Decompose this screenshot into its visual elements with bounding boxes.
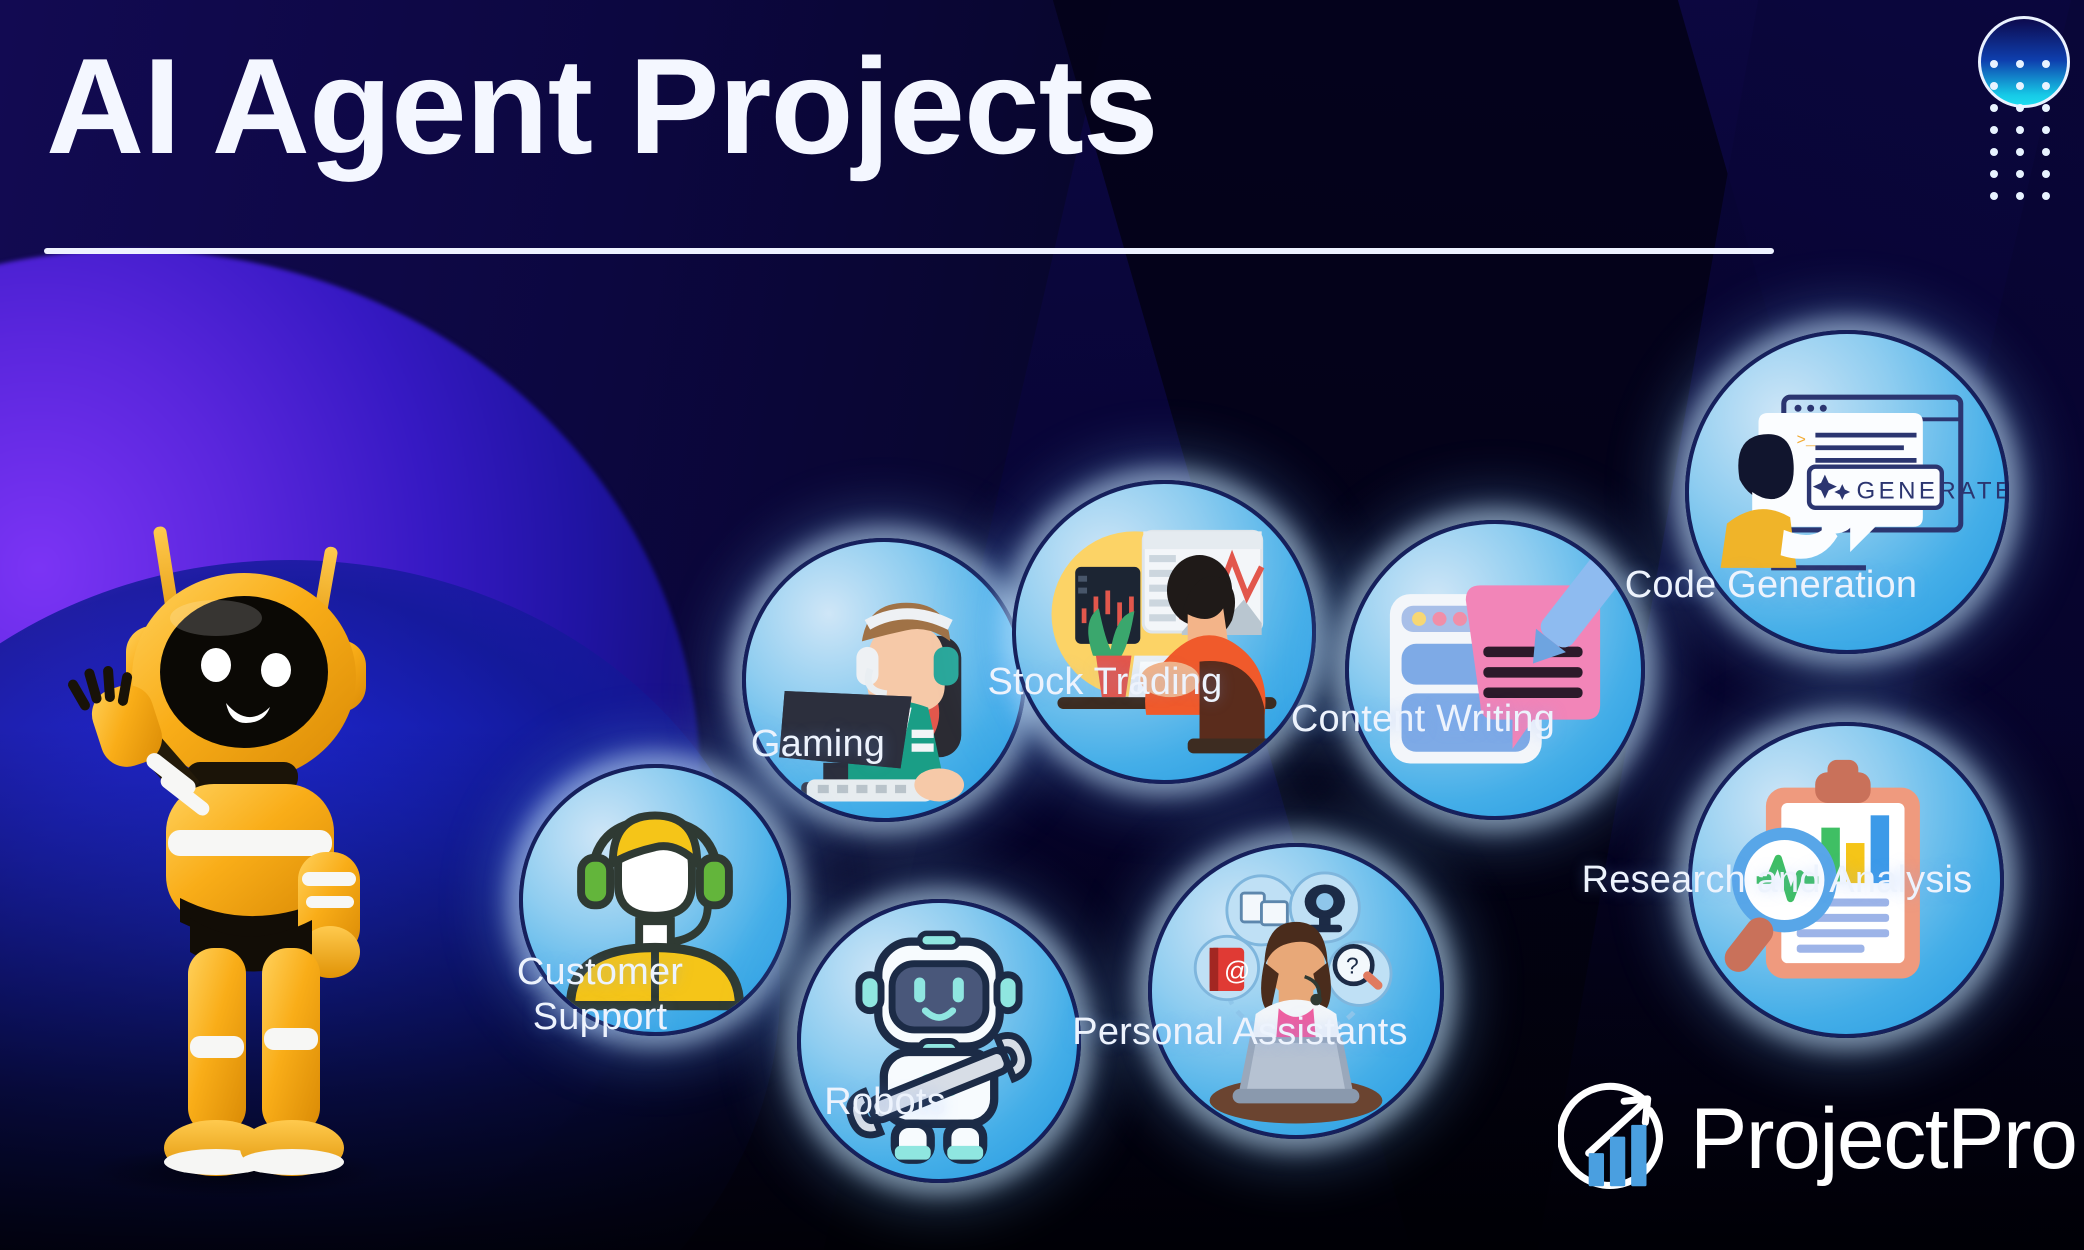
dot <box>2042 126 2050 134</box>
robot-with-wrench-icon <box>797 899 1081 1183</box>
dot <box>2042 170 2050 178</box>
node-label-content-writing: Content Writing <box>1258 697 1588 742</box>
node-label-gaming: Gaming <box>733 722 903 767</box>
projectpro-logo: ProjectPro <box>1558 1080 2077 1198</box>
decorative-orb <box>1972 8 2076 198</box>
dot <box>1990 192 1998 200</box>
dot <box>2016 104 2024 112</box>
node-label-personal-assistants: Personal Assistants <box>1040 1010 1440 1055</box>
dot <box>2016 192 2024 200</box>
page-title: AI Agent Projects <box>46 34 1158 178</box>
dot <box>2016 60 2024 68</box>
growth-bar-chart-arrow-circle-icon <box>1558 1080 1676 1198</box>
dot <box>1990 148 1998 156</box>
dot <box>1990 126 1998 134</box>
assistant-at-laptop-icon: @ ? <box>1148 843 1444 1139</box>
svg-text:@: @ <box>1224 957 1250 985</box>
node-label-customer-support: Customer Support <box>500 950 700 1040</box>
node-label-stock-trading: Stock Trading <box>965 660 1245 705</box>
title-underline-rule <box>44 248 1774 254</box>
waving-yellow-robot-mascot-icon <box>30 500 450 1200</box>
dot <box>2016 82 2024 90</box>
dot <box>2016 126 2024 134</box>
dot <box>1990 104 1998 112</box>
dot <box>2042 104 2050 112</box>
node-label-code-generation: Code Generation <box>1596 563 1946 608</box>
projectpro-wordmark: ProjectPro <box>1690 1096 2077 1182</box>
svg-text:?: ? <box>1346 953 1359 979</box>
dot <box>2042 82 2050 90</box>
dot-grid-icon <box>1990 60 2058 194</box>
svg-text:>_: >_ <box>1796 432 1815 450</box>
dot <box>2042 60 2050 68</box>
node-label-research-and-analysis: Research and Analysis <box>1542 858 2012 903</box>
infographic-poster: AI Agent Projects <box>0 0 2084 1250</box>
generate-button-text: GENERATE <box>1856 477 2005 504</box>
dot <box>2042 192 2050 200</box>
node-label-robots: Robots <box>805 1080 965 1125</box>
dot <box>2042 148 2050 156</box>
dot <box>1990 60 1998 68</box>
robot-mascot <box>30 500 450 1200</box>
dot <box>2016 148 2024 156</box>
dot <box>1990 170 1998 178</box>
dot <box>1990 82 1998 90</box>
dot <box>2016 170 2024 178</box>
